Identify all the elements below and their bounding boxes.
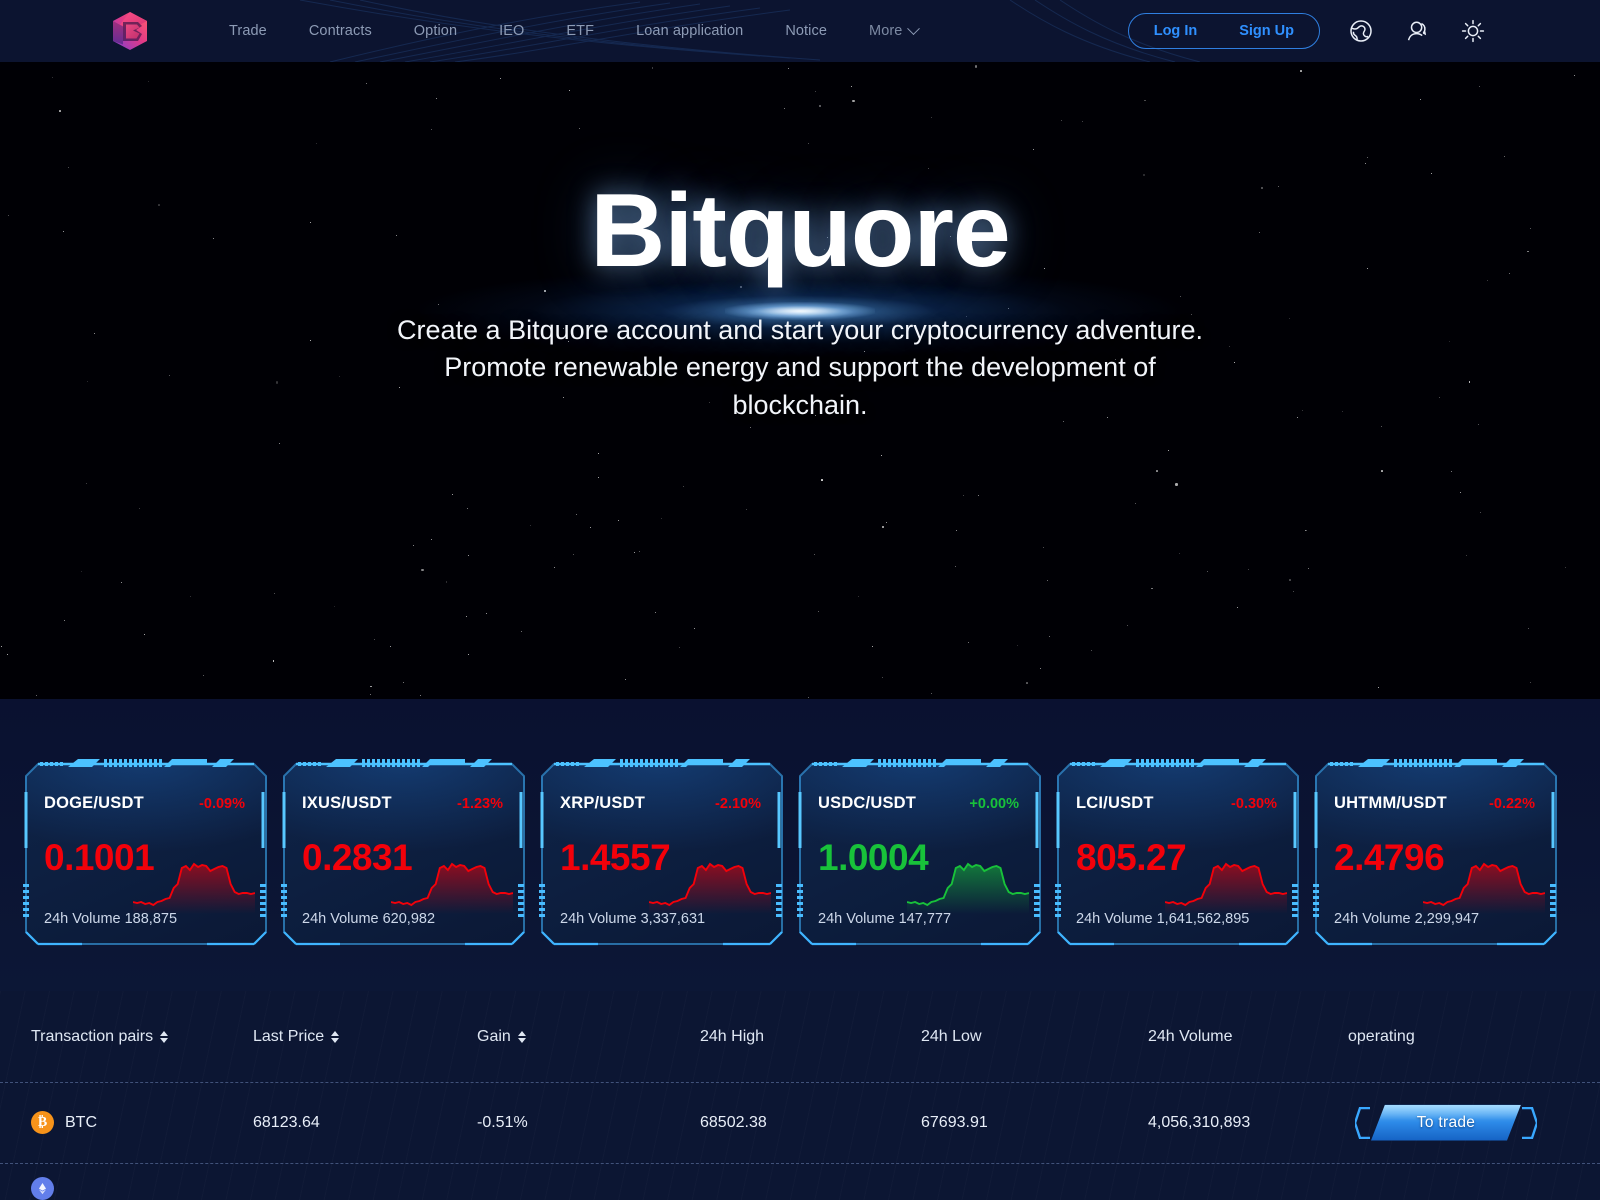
column-label: Gain [477, 1028, 511, 1046]
ticker-price: 0.1001 [44, 837, 245, 879]
ticker-change-percent: -0.09% [199, 796, 245, 812]
hero-subtitle: Create a Bitquore account and start your… [380, 312, 1220, 424]
ticker-price: 805.27 [1076, 837, 1277, 879]
nav-item-more[interactable]: More [848, 23, 939, 39]
cell-24h-low: 67693.91 [921, 1114, 988, 1132]
logo-hexagon-b-icon [109, 10, 151, 52]
ticker-card[interactable]: DOGE/USDT -0.09% 0.1001 24h Volume 188,8… [22, 756, 267, 952]
bitquore-logo[interactable] [108, 9, 152, 53]
ticker-change-percent: -0.30% [1231, 796, 1277, 812]
ticker-pair: IXUS/USDT [302, 794, 392, 813]
ticker-card[interactable]: IXUS/USDT -1.23% 0.2831 24h Volume 620,9… [280, 756, 525, 952]
button-left-bracket-icon [1355, 1107, 1371, 1139]
ticker-volume: 24h Volume 147,777 [818, 911, 951, 927]
column-header-last-price[interactable]: Last Price [253, 1028, 339, 1046]
hero-subtitle-line-1: Create a Bitquore account and start your… [397, 315, 1068, 345]
ticker-volume: 24h Volume 2,299,947 [1334, 911, 1479, 927]
market-table-header: Transaction pairs Last Price Gain 24h Hi… [0, 991, 1600, 1083]
sort-arrows-icon[interactable] [331, 1031, 339, 1043]
login-button[interactable]: Log In [1133, 23, 1219, 39]
hero-subtitle-line-3: Promote renewable energy and support the… [444, 352, 1155, 382]
ticker-pair: DOGE/USDT [44, 794, 144, 813]
main-navigation: Trade Contracts Option IEO ETF Loan appl… [208, 23, 939, 39]
ticker-change-percent: -2.10% [715, 796, 761, 812]
button-right-bracket-icon [1521, 1107, 1537, 1139]
to-trade-label: To trade [1417, 1114, 1475, 1132]
eth-icon [31, 1177, 54, 1200]
cell-last-price: 68123.64 [253, 1114, 320, 1132]
ticker-pair: XRP/USDT [560, 794, 645, 813]
chevron-down-icon [908, 22, 921, 35]
ticker-volume: 24h Volume 3,337,631 [560, 911, 705, 927]
ticker-volume: 24h Volume 188,875 [44, 911, 177, 927]
hero-section: Bitquore Create a Bitquore account and s… [0, 62, 1600, 699]
cell-24h-volume: 4,056,310,893 [1148, 1114, 1250, 1132]
hero-subtitle-line-4: blockchain. [732, 390, 867, 420]
ticker-cards-section: DOGE/USDT -0.09% 0.1001 24h Volume 188,8… [0, 699, 1600, 991]
support-agent-icon [1404, 18, 1430, 44]
cell-transaction-pair [31, 1177, 54, 1200]
language-globe-button[interactable] [1346, 16, 1376, 46]
nav-item-contracts[interactable]: Contracts [288, 23, 393, 39]
table-row-next-partial[interactable] [0, 1163, 1600, 1200]
auth-button-group: Log In Sign Up [1128, 13, 1320, 49]
nav-item-loan-application[interactable]: Loan application [615, 23, 764, 39]
ticker-change-percent: +0.00% [969, 796, 1019, 812]
ticker-card-list: DOGE/USDT -0.09% 0.1001 24h Volume 188,8… [22, 756, 1557, 952]
theme-toggle-button[interactable] [1458, 16, 1488, 46]
ticker-pair: USDC/USDT [818, 794, 916, 813]
ticker-pair: LCI/USDT [1076, 794, 1154, 813]
column-label: Last Price [253, 1028, 324, 1046]
coin-symbol: BTC [65, 1114, 97, 1132]
nav-item-etf[interactable]: ETF [545, 23, 615, 39]
ticker-card[interactable]: LCI/USDT -0.30% 805.27 24h Volume 1,641,… [1054, 756, 1299, 952]
column-header-operating: operating [1348, 1028, 1415, 1046]
ticker-card[interactable]: XRP/USDT -2.10% 1.4557 24h Volume 3,337,… [538, 756, 783, 952]
ticker-price: 0.2831 [302, 837, 503, 879]
ticker-pair: UHTMM/USDT [1334, 794, 1447, 813]
nav-item-option[interactable]: Option [393, 23, 478, 39]
column-header-24h-low: 24h Low [921, 1028, 982, 1046]
ticker-change-percent: -1.23% [457, 796, 503, 812]
nav-item-trade[interactable]: Trade [208, 23, 288, 39]
cell-24h-high: 68502.38 [700, 1114, 767, 1132]
table-row[interactable]: ₿ BTC 68123.64 -0.51% 68502.38 67693.91 … [0, 1082, 1600, 1163]
nav-more-label: More [869, 23, 902, 39]
cell-gain: -0.51% [477, 1114, 528, 1132]
cell-transaction-pair: ₿ BTC [31, 1111, 97, 1134]
site-header: Trade Contracts Option IEO ETF Loan appl… [0, 0, 1600, 62]
ticker-volume: 24h Volume 1,641,562,895 [1076, 911, 1249, 927]
page-title: Bitquore [0, 174, 1600, 288]
column-header-gain[interactable]: Gain [477, 1028, 526, 1046]
ticker-price: 1.4557 [560, 837, 761, 879]
column-header-24h-volume: 24h Volume [1148, 1028, 1233, 1046]
to-trade-button[interactable]: To trade [1357, 1105, 1535, 1141]
column-label: Transaction pairs [31, 1028, 153, 1046]
column-header-24h-high: 24h High [700, 1028, 764, 1046]
sun-icon [1460, 18, 1486, 44]
ticker-change-percent: -0.22% [1489, 796, 1535, 812]
sort-arrows-icon[interactable] [518, 1031, 526, 1043]
globe-icon [1348, 18, 1374, 44]
customer-support-button[interactable] [1402, 16, 1432, 46]
signup-button[interactable]: Sign Up [1218, 23, 1315, 39]
ticker-volume: 24h Volume 620,982 [302, 911, 435, 927]
sort-arrows-icon[interactable] [160, 1031, 168, 1043]
ticker-price: 1.0004 [818, 837, 1019, 879]
nav-item-ieo[interactable]: IEO [478, 23, 545, 39]
ticker-card[interactable]: UHTMM/USDT -0.22% 2.4796 24h Volume 2,29… [1312, 756, 1557, 952]
hero-subtitle-line-2: adventure. [1075, 315, 1203, 345]
btc-icon: ₿ [31, 1111, 54, 1134]
ticker-price: 2.4796 [1334, 837, 1535, 879]
market-table-section: Transaction pairs Last Price Gain 24h Hi… [0, 991, 1600, 1200]
nav-item-notice[interactable]: Notice [764, 23, 848, 39]
column-header-transaction-pairs[interactable]: Transaction pairs [31, 1028, 168, 1046]
ticker-card[interactable]: USDC/USDT +0.00% 1.0004 24h Volume 147,7… [796, 756, 1041, 952]
header-actions: Log In Sign Up [1128, 0, 1600, 62]
